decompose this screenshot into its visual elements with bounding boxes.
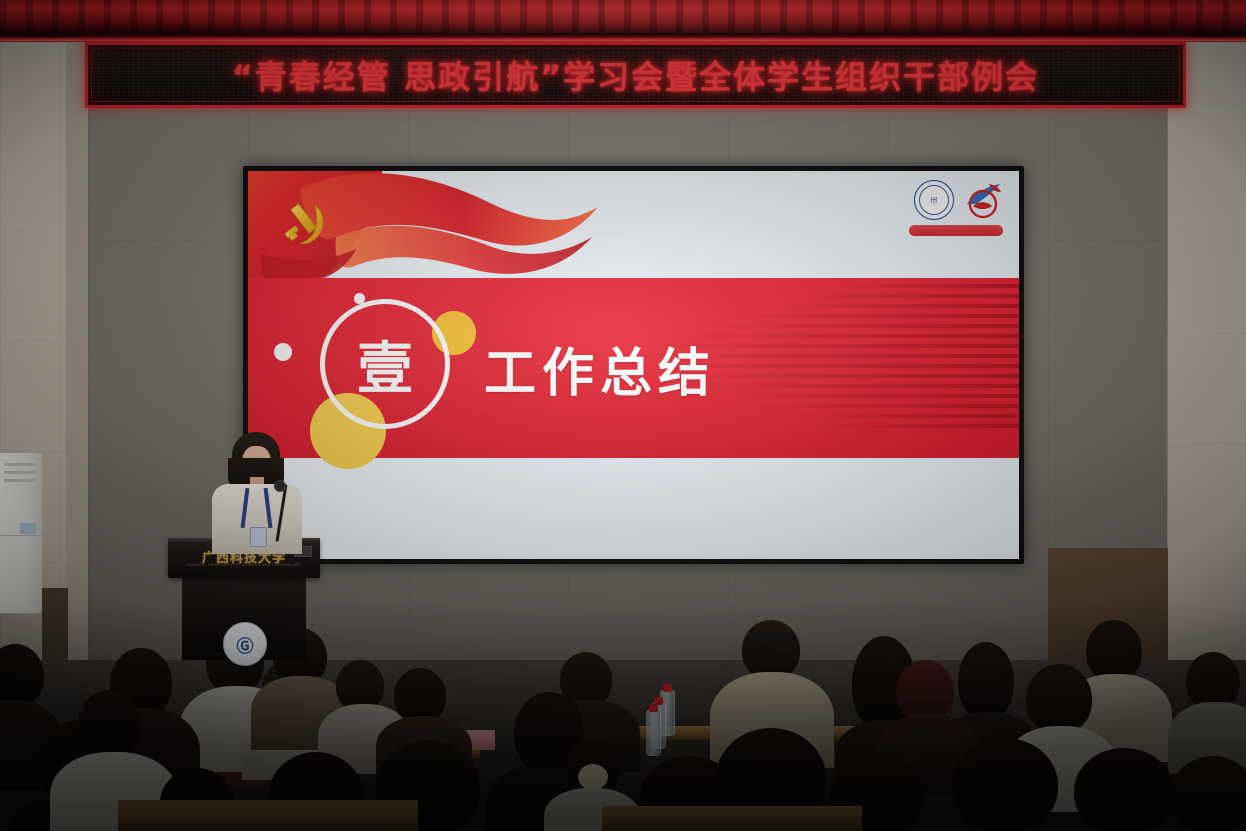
screenshot-root: “青春经管 思政引航”学习会暨全体学生组织干部例会: [0, 0, 1246, 831]
photo-vignette: [0, 0, 1246, 831]
